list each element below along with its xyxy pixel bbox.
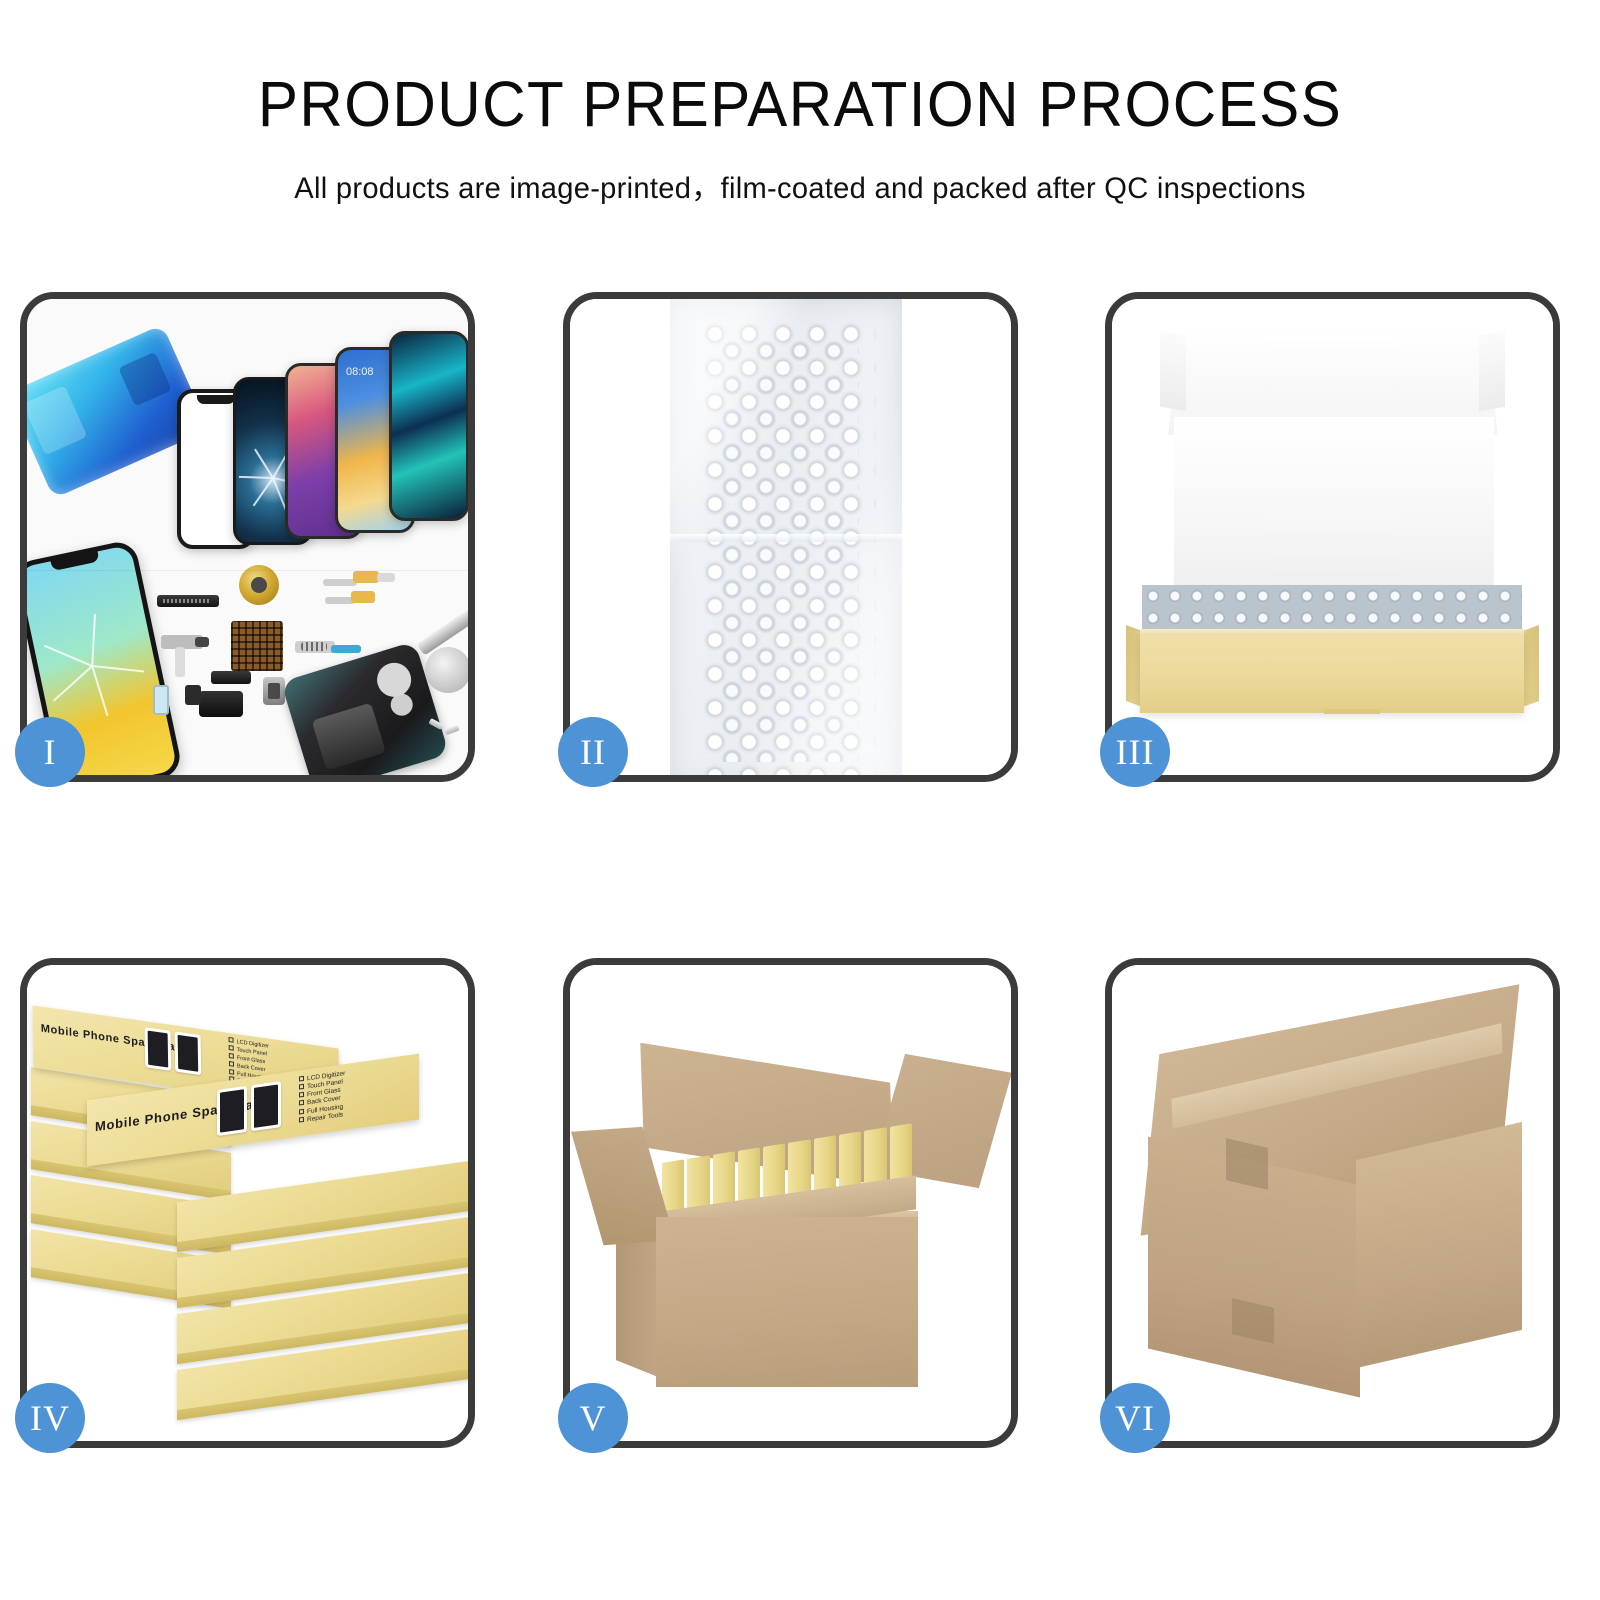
crack-pattern-icon bbox=[273, 477, 274, 478]
phone-screen-fan: 08:08 bbox=[177, 319, 468, 569]
phone-thumbnail-icon bbox=[175, 1031, 202, 1075]
step-image-6 bbox=[1112, 965, 1553, 1441]
box-inner-panel bbox=[1174, 417, 1494, 587]
step-panel-1[interactable]: 08:08 bbox=[20, 292, 475, 782]
step-panel-6[interactable]: VI bbox=[1105, 958, 1560, 1448]
retail-box-thumbnails bbox=[217, 1081, 281, 1136]
component-block-icon-3 bbox=[185, 685, 201, 705]
component-block-icon-2 bbox=[199, 691, 243, 717]
phone-thumbnail-icon bbox=[251, 1081, 281, 1131]
box-stack: Mobile Phone Spare Parts LCD Digitizer T… bbox=[27, 965, 468, 1441]
step-image-5 bbox=[570, 965, 1011, 1441]
phone-screen-teal bbox=[389, 331, 468, 521]
cleaning-brush-icon bbox=[425, 647, 468, 693]
step-panel-3[interactable]: III bbox=[1105, 292, 1560, 782]
step-panel-5[interactable]: V bbox=[563, 958, 1018, 1448]
step-image-2 bbox=[570, 299, 1011, 775]
step-panel-4[interactable]: Mobile Phone Spare Parts LCD Digitizer T… bbox=[20, 958, 475, 1448]
sealed-carton-scene bbox=[1112, 965, 1553, 1441]
retail-box-stack-scene: Mobile Phone Spare Parts LCD Digitizer T… bbox=[27, 965, 468, 1441]
spare-parts-group bbox=[147, 561, 468, 775]
step-badge-1: I bbox=[15, 717, 85, 787]
component-block-icon-1 bbox=[211, 671, 251, 684]
phone-thumbnail-icon bbox=[145, 1027, 172, 1071]
retail-box-checklist: LCD Digitizer Touch Panel Front Glass Ba… bbox=[299, 1070, 345, 1125]
step-badge-3: III bbox=[1100, 717, 1170, 787]
step-image-3 bbox=[1112, 299, 1553, 775]
open-carton-scene bbox=[570, 965, 1011, 1441]
step-image-4: Mobile Phone Spare Parts LCD Digitizer T… bbox=[27, 965, 468, 1441]
open-mailer-scene bbox=[1112, 299, 1553, 775]
connector-bar-icon bbox=[157, 595, 219, 607]
speaker-module-icon bbox=[263, 677, 285, 705]
box-lid-flap-right bbox=[1479, 331, 1505, 412]
phone-screen-clock: 08:08 bbox=[346, 366, 374, 378]
bubble-wrap-scene bbox=[570, 299, 1011, 775]
phone-thumbnail-icon bbox=[217, 1086, 247, 1136]
step-badge-5: V bbox=[558, 1383, 628, 1453]
carton-front-face bbox=[656, 1217, 918, 1387]
plastic-sheen bbox=[670, 299, 902, 775]
flex-cable-icon-2 bbox=[325, 591, 395, 611]
ic-chip-icon bbox=[231, 621, 283, 671]
box-front-face bbox=[1140, 635, 1524, 713]
step-badge-4: IV bbox=[15, 1383, 85, 1453]
retail-box-thumbnails bbox=[145, 1027, 202, 1075]
step-image-1: 08:08 bbox=[27, 299, 468, 775]
step-badge-6: VI bbox=[1100, 1383, 1170, 1453]
taptic-coil-icon bbox=[239, 565, 279, 605]
sim-tray-icon bbox=[153, 685, 169, 715]
screws-icon bbox=[429, 721, 468, 737]
step-panel-2[interactable]: II bbox=[563, 292, 1018, 782]
box-lid-flap-left bbox=[1160, 331, 1186, 412]
process-step-grid: 08:08 bbox=[0, 0, 1600, 1600]
bubble-wrap-bag bbox=[670, 299, 902, 775]
phone-parts-scene: 08:08 bbox=[27, 299, 468, 775]
step-badge-2: II bbox=[558, 717, 628, 787]
carton-side-face bbox=[1356, 1122, 1522, 1368]
